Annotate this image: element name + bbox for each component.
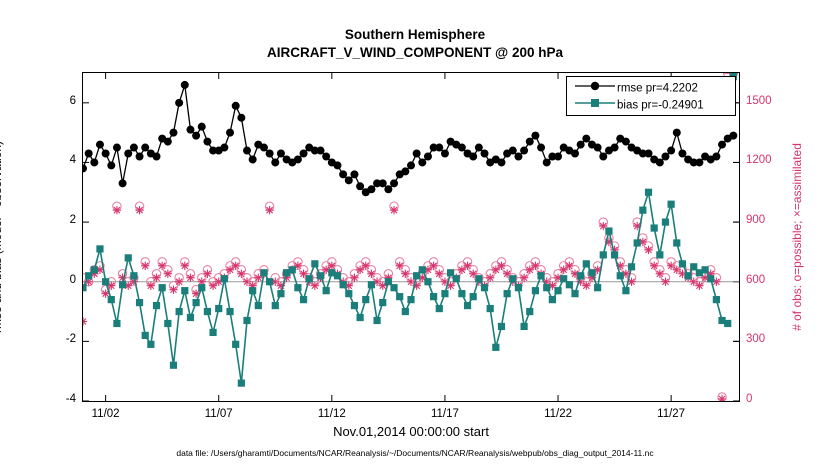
rmse-marker [203,138,211,146]
obs-assimilated-marker [237,270,245,278]
bias-marker [566,281,573,288]
obs-assimilated-marker [650,262,658,270]
bias-marker [96,245,103,252]
rmse-marker [577,141,585,149]
rmse-marker [232,102,240,110]
obs-assimilated-marker [181,262,189,270]
obs-assimilated-marker [497,262,505,270]
bias-marker [537,272,544,279]
title-line-2: AIRCRAFT_V_WIND_COMPONENT @ 200 hPa [0,44,830,62]
bias-marker [639,207,646,214]
obs-assimilated-marker [565,262,573,270]
obs-assimilated-marker [209,282,217,290]
obs-assimilated-marker [141,262,149,270]
rmse-marker [164,138,172,146]
bias-marker [526,308,533,315]
rmse-marker [96,141,104,149]
obs-assimilated-marker [463,262,471,270]
bias-marker [351,302,358,309]
bias-marker [255,302,262,309]
rmse-marker [141,144,149,152]
bias-marker [673,239,680,246]
rmse-marker [333,161,341,169]
rmse-marker [718,141,726,149]
rmse-marker [345,176,353,184]
bias-marker [521,323,528,330]
bias-marker [277,290,284,297]
bias-marker [634,239,641,246]
bias-marker [294,284,301,291]
bias-marker [724,320,731,327]
rmse-marker [277,150,285,158]
bias-marker [549,296,556,303]
rmse-marker [554,152,562,160]
bias-marker [402,308,409,315]
x-tick: 11/07 [189,408,249,420]
rmse-marker [356,182,364,190]
obs-assimilated-marker [582,282,590,290]
y-tick-left: 0 [42,274,76,286]
bias-marker [532,287,539,294]
bias-marker [685,272,692,279]
obs-assimilated-marker [135,206,143,214]
x-tick: 11/02 [76,408,136,420]
chart-title: Southern Hemisphere AIRCRAFT_V_WIND_COMP… [0,26,830,62]
bias-marker [583,260,590,267]
bias-marker [362,296,369,303]
rmse-marker [175,99,183,107]
bias-marker [306,275,313,282]
rmse-marker [673,129,681,137]
bias-marker [193,299,200,306]
bias-marker [662,218,669,225]
bias-marker [701,266,708,273]
bias-marker [221,275,228,282]
bias-marker [300,296,307,303]
rmse-marker [469,152,477,160]
y-tick-right: 300 [746,333,792,345]
bias-marker [419,266,426,273]
bias-marker [504,290,511,297]
rmse-marker [136,152,144,160]
bias-marker [289,266,296,273]
rmse-marker [220,144,228,152]
y-tick-right: 1200 [746,154,792,166]
rmse-marker [594,144,602,152]
bias-marker [113,320,120,327]
obs-assimilated-marker [492,266,500,274]
rmse-marker [418,158,426,166]
bias-marker [209,329,216,336]
rmse-marker [124,150,132,158]
rmse-marker [85,150,93,158]
bias-marker [453,275,460,282]
bias-marker [396,293,403,300]
rmse-marker [526,138,534,146]
obs-assimilated-marker [367,270,375,278]
rmse-marker [119,179,127,187]
obs-assimilated-marker [226,266,234,274]
bias-marker [651,224,658,231]
obs-assimilated-marker [113,206,121,214]
rmse-marker [237,114,245,122]
bias-marker [436,305,443,312]
x-tick: 11/17 [415,408,475,420]
bias-marker [170,362,177,369]
bias-marker [249,287,256,294]
bias-marker [159,284,166,291]
obs-assimilated-marker [656,270,664,278]
bias-marker [645,189,652,196]
rmse-marker [186,126,194,134]
rmse-marker [543,158,551,166]
bias-marker [464,302,471,309]
bias-marker [458,290,465,297]
obs-assimilated-marker [175,278,183,286]
bias-marker [83,284,87,291]
legend: rmse pr=4.2202 bias pr=-0.24901 [566,76,736,116]
obs-assimilated-marker [147,282,155,290]
legend-marker-square-icon [573,97,617,114]
rmse-marker [317,147,325,155]
rmse-marker [531,132,539,140]
obs-assimilated-marker [429,262,437,270]
legend-label-bias: bias pr=-0.24901 [617,100,704,112]
y-tick-right: 1500 [746,95,792,107]
y-axis-left-label: rmse and bias (model - observation) [0,72,8,402]
bias-marker [481,284,488,291]
rmse-marker [130,144,138,152]
bias-marker [656,251,663,258]
bias-marker [130,272,137,279]
rmse-marker [458,144,466,152]
rmse-marker [90,158,98,166]
rmse-marker [599,152,607,160]
obs-assimilated-marker [486,274,494,282]
obs-assimilated-marker [152,274,160,282]
plot-area [82,72,740,402]
y-tick-right: 900 [746,214,792,226]
obs-assimilated-marker [526,266,534,274]
bias-marker [622,287,629,294]
rmse-marker [390,179,398,187]
rmse-marker [509,147,517,155]
rmse-marker [678,150,686,158]
bias-marker [357,314,364,321]
obs-assimilated-marker [356,266,364,274]
bias-marker [379,299,386,306]
obs-assimilated-marker [265,206,273,214]
bias-marker [600,251,607,258]
bias-marker [498,323,505,330]
rmse-marker [622,138,630,146]
rmse-marker [611,144,619,152]
obs-assimilated-marker [531,262,539,270]
bias-marker [430,293,437,300]
plot-canvas [83,73,739,401]
bias-marker [470,293,477,300]
bias-marker [204,308,211,315]
bias-marker [605,227,612,234]
obs-assimilated-marker [203,270,211,278]
rmse-marker [537,144,545,152]
bias-marker [147,341,154,348]
rmse-marker [497,158,505,166]
rmse-marker [661,152,669,160]
rmse-marker [571,150,579,158]
bias-marker [571,290,578,297]
y-axis-right-label: # of obs: o=possible; ×=assimilated [790,72,808,402]
data-file-footer: data file: /Users/gharamti/Documents/NCA… [0,448,830,458]
bias-marker [707,275,714,282]
rmse-marker [266,150,274,158]
y-tick-right: 600 [746,274,792,286]
rmse-marker [300,150,308,158]
legend-marker-circle-icon [573,80,617,97]
bias-marker [492,344,499,351]
rmse-marker [198,123,206,131]
bias-marker [441,290,448,297]
bias-marker [594,284,601,291]
rmse-marker [243,147,251,155]
bias-marker [102,278,109,285]
obs-assimilated-marker [350,274,358,282]
obs-assimilated-marker [362,262,370,270]
bias-marker [611,251,618,258]
bias-marker [108,296,115,303]
y-tick-left: -2 [42,333,76,345]
rmse-marker [83,164,87,172]
rmse-marker [249,155,257,163]
bias-marker [91,266,98,273]
bias-marker [136,299,143,306]
obs-assimilated-marker [83,317,87,325]
bias-marker [390,284,397,291]
obs-assimilated-marker [520,274,528,282]
bias-marker [577,272,584,279]
chart-page: Southern Hemisphere AIRCRAFT_V_WIND_COMP… [0,0,830,470]
bias-marker [176,308,183,315]
rmse-marker [367,185,375,193]
bias-marker [713,296,720,303]
series-canvas [83,73,739,401]
rmse-marker [169,129,177,137]
bias-marker [215,305,222,312]
bias-marker [617,272,624,279]
obs-assimilated-marker [169,285,177,293]
rmse-marker [645,150,653,158]
obs-assimilated-marker [559,266,567,274]
obs-assimilated-marker [311,282,319,290]
bias-marker [323,287,330,294]
bias-marker [238,380,245,387]
obs-assimilated-marker [644,246,652,254]
bias-marker [554,287,561,294]
rmse-marker [481,150,489,158]
bias-marker [515,284,522,291]
y-tick-left: 6 [42,95,76,107]
bias-marker [226,308,233,315]
rmse-marker [695,158,703,166]
bias-marker [198,284,205,291]
rmse-marker [226,129,234,137]
rmse-marker [384,185,392,193]
bias-marker [266,278,273,285]
rmse-marker [107,161,115,169]
rmse-marker [294,155,302,163]
bias-marker [373,317,380,324]
obs-assimilated-marker [695,282,703,290]
x-tick: 11/22 [528,408,588,420]
rmse-marker [322,152,330,160]
rmse-marker [350,170,358,178]
bias-marker [340,281,347,288]
obs-assimilated-marker [231,262,239,270]
rmse-marker [475,144,483,152]
rmse-marker [271,158,279,166]
bias-marker [311,260,318,267]
rmse-marker [260,144,268,152]
rmse-marker [667,147,675,155]
obs-assimilated-marker [118,274,126,282]
rmse-marker [407,161,415,169]
y-tick-left: -4 [42,393,76,405]
bias-marker [334,272,341,279]
bias-marker [487,305,494,312]
rmse-marker [153,152,161,160]
bias-marker [407,296,414,303]
y-tick-left: 4 [42,154,76,166]
obs-assimilated-marker [401,270,409,278]
bias-marker [260,269,267,276]
obs-assimilated-marker [661,278,669,286]
bias-marker [588,269,595,276]
bias-marker [543,284,550,291]
obs-assimilated-marker [390,206,398,214]
rmse-marker [339,170,347,178]
obs-assimilated-marker [395,262,403,270]
bias-marker [475,275,482,282]
obs-assimilated-marker [186,274,194,282]
legend-item-rmse: rmse pr=4.2202 [573,80,698,96]
bias-marker [679,260,686,267]
y-tick-right: 0 [746,393,792,405]
bias-marker [368,281,375,288]
rmse-marker [520,147,528,155]
obs-assimilated-marker [164,270,172,278]
y-tick-left: 2 [42,214,76,226]
bias-marker [187,314,194,321]
bias-marker [164,320,171,327]
bias-marker [153,302,160,309]
rmse-marker [729,132,737,140]
legend-item-bias: bias pr=-0.24901 [573,97,704,113]
obs-assimilated-marker [435,270,443,278]
rmse-marker [435,144,443,152]
legend-label-rmse: rmse pr=4.2202 [617,83,698,95]
obs-assimilated-marker [328,262,336,270]
rmse-marker [712,152,720,160]
title-line-1: Southern Hemisphere [345,27,485,42]
bias-marker [668,201,675,208]
bias-marker [509,275,516,282]
rmse-marker [102,150,110,158]
rmse-marker [582,135,590,143]
rmse-marker [413,150,421,158]
bias-marker [272,302,279,309]
x-tick: 11/27 [641,408,701,420]
bias-marker [232,341,239,348]
bias-marker [628,263,635,270]
rmse-marker [441,150,449,158]
rmse-marker [113,144,121,152]
rmse-marker [192,132,200,140]
bias-marker [125,254,132,261]
rmse-marker [379,179,387,187]
x-tick: 11/12 [302,408,362,420]
bias-marker [345,290,352,297]
bias-marker [181,287,188,294]
rmse-marker [424,152,432,160]
bias-line [83,192,728,383]
rmse-marker [181,81,189,89]
rmse-marker [656,158,664,166]
obs-assimilated-marker [458,266,466,274]
rmse-marker [514,152,522,160]
obs-assimilated-marker [158,262,166,270]
bias-marker [142,332,149,339]
bias-marker [119,281,126,288]
bias-marker [424,278,431,285]
bias-marker [317,272,324,279]
x-axis-label: Nov.01,2014 00:00:00 start [82,424,740,439]
rmse-marker [401,167,409,175]
bias-marker [243,317,250,324]
